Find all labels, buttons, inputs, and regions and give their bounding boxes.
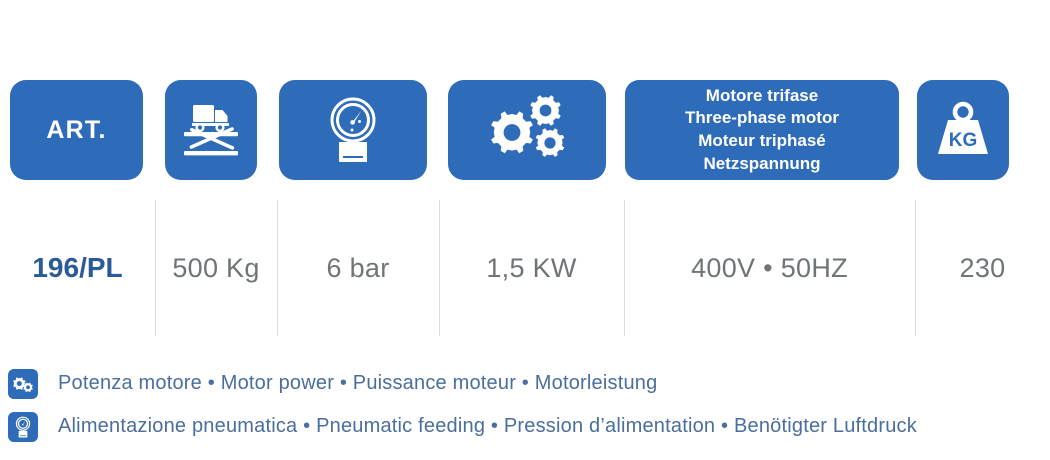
tile-motor: Motore trifase Three-phase motor Moteur …: [625, 80, 899, 180]
value-weight: 230: [960, 253, 1006, 284]
legend-row-motor-power: Potenza motore • Motor power • Puissance…: [8, 362, 1050, 405]
motor-line-fr: Moteur triphasé: [685, 130, 839, 153]
legend-label-pneumatic: Alimentazione pneumatica • Pneumatic fee…: [58, 415, 917, 438]
spec-values-row: 196/PL 500 Kg 6 bar 1,5 KW 400V • 50HZ 2…: [0, 200, 1050, 336]
motor-line-it: Motore trifase: [685, 85, 839, 108]
value-capacity: 500 Kg: [172, 253, 259, 284]
cell-pressure: 6 bar: [277, 200, 439, 336]
spec-sheet: ART.: [0, 0, 1050, 460]
cell-capacity: 500 Kg: [155, 200, 277, 336]
truck-on-scissor-lift-icon: [182, 99, 240, 161]
weight-kg-icon-label: KG: [949, 130, 978, 151]
tile-weight: KG: [917, 80, 1009, 180]
header-tile-row: ART.: [0, 80, 1050, 180]
value-voltage: 400V • 50HZ: [691, 253, 848, 284]
cell-voltage: 400V • 50HZ: [624, 200, 915, 336]
tile-capacity: [165, 80, 257, 180]
cell-article: 196/PL: [0, 200, 155, 336]
tile-article: ART.: [10, 80, 143, 180]
motor-line-en: Three-phase motor: [685, 107, 839, 130]
cell-weight: 230: [915, 200, 1050, 336]
tile-pressure: [279, 80, 427, 180]
motor-text-block: Motore trifase Three-phase motor Moteur …: [685, 85, 839, 175]
article-header-label: ART.: [46, 116, 106, 145]
tile-power: [448, 80, 606, 180]
gears-icon: [8, 369, 38, 399]
legend-label-motor-power: Potenza motore • Motor power • Puissance…: [58, 372, 657, 395]
motor-line-de: Netzspannung: [685, 153, 839, 176]
cell-power: 1,5 KW: [439, 200, 624, 336]
value-article: 196/PL: [32, 252, 122, 284]
value-pressure: 6 bar: [326, 253, 389, 284]
legend-row-pneumatic: Alimentazione pneumatica • Pneumatic fee…: [8, 405, 1050, 448]
gears-icon: [479, 93, 575, 167]
value-power: 1,5 KW: [486, 253, 576, 284]
weight-kg-icon: KG: [932, 97, 994, 163]
pressure-gauge-icon: [326, 94, 380, 166]
pressure-gauge-icon: [8, 412, 38, 442]
legend: Potenza motore • Motor power • Puissance…: [8, 362, 1050, 448]
